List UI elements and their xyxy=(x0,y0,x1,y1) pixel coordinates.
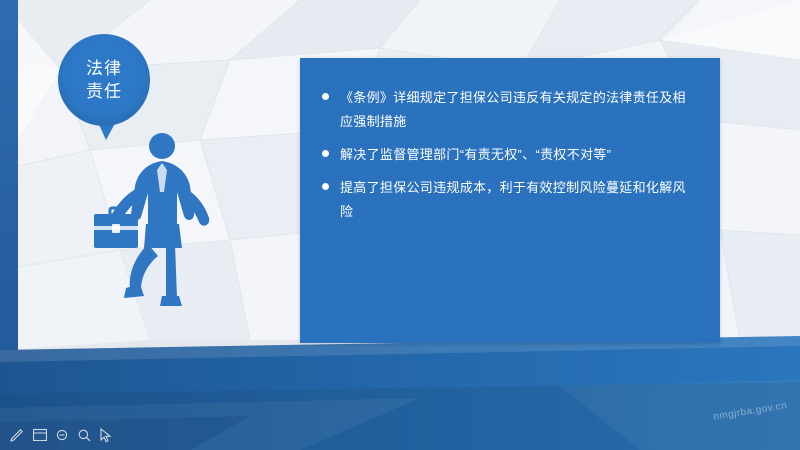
bullet-dot-icon xyxy=(322,183,329,190)
magnifier-icon[interactable] xyxy=(78,429,91,442)
slide-canvas: 法律 责任 xyxy=(0,0,800,450)
bullet-list: 《条例》详细规定了担保公司违反有关规定的法律责任及相应强制措施 解决了监督管理部… xyxy=(322,86,698,233)
bullet-text: 《条例》详细规定了担保公司违反有关规定的法律责任及相应强制措施 xyxy=(340,86,698,134)
list-item: 提高了担保公司违规成本，利于有效控制风险蔓延和化解风险 xyxy=(322,176,698,224)
list-item: 《条例》详细规定了担保公司违反有关规定的法律责任及相应强制措施 xyxy=(322,86,698,134)
topic-bubble-line1: 法律 xyxy=(86,57,122,80)
zoom-out-icon[interactable] xyxy=(56,429,69,442)
list-item: 解决了监督管理部门“有责无权”、“责权不对等” xyxy=(322,143,698,167)
bullet-text: 提高了担保公司违规成本，利于有效控制风险蔓延和化解风险 xyxy=(340,176,698,224)
cursor-icon[interactable] xyxy=(100,428,113,443)
slide-grid-icon[interactable] xyxy=(33,429,47,441)
bullet-dot-icon xyxy=(322,93,329,100)
bottom-ribbon xyxy=(0,336,800,450)
topic-bubble: 法律 责任 xyxy=(58,34,150,126)
annotation-toolbar[interactable] xyxy=(10,424,113,446)
briefcase-icon xyxy=(94,208,138,248)
content-panel: 《条例》详细规定了担保公司违反有关规定的法律责任及相应强制措施 解决了监督管理部… xyxy=(300,58,720,343)
bullet-dot-icon xyxy=(322,150,329,157)
bullet-text: 解决了监督管理部门“有责无权”、“责权不对等” xyxy=(340,143,611,167)
topic-bubble-line2: 责任 xyxy=(86,80,122,103)
businessman-illustration xyxy=(78,130,238,320)
pen-icon[interactable] xyxy=(10,428,24,442)
